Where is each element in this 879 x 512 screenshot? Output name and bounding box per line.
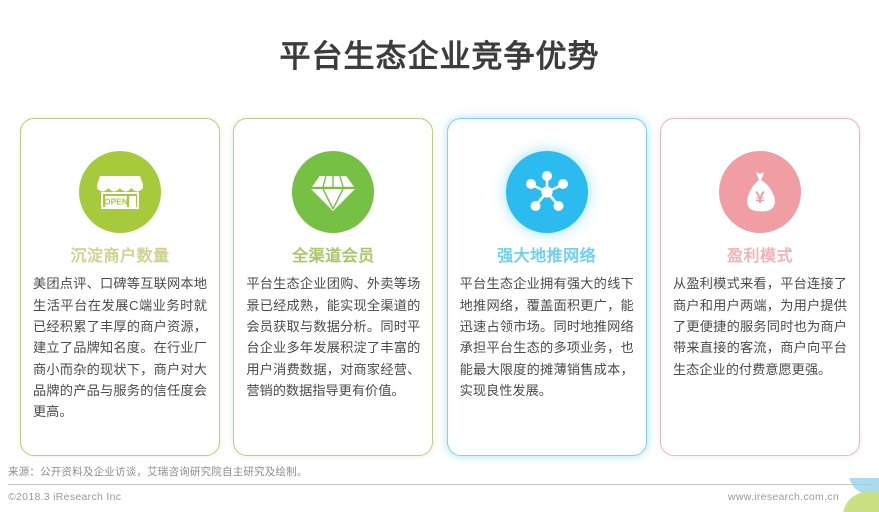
card-omnichannel-members: 全渠道会员 平台生态企业团购、外卖等场景已经成熟，能实现全渠道的会员获取与数据分…	[233, 118, 433, 456]
card-1-icon-wrap: OPEN	[30, 151, 210, 233]
card-3-icon-wrap	[457, 151, 637, 233]
card-title: 全渠道会员	[243, 247, 423, 266]
card-2-icon-wrap	[243, 151, 423, 233]
storefront-open-icon: OPEN	[79, 151, 161, 233]
svg-text:¥: ¥	[755, 188, 765, 207]
money-bag-yuan-icon: ¥	[719, 151, 801, 233]
card-body: 平台生态企业团购、外卖等场景已经成熟，能实现全渠道的会员获取与数据分析。同时平台…	[243, 273, 423, 401]
network-nodes-icon	[506, 151, 588, 233]
card-body: 从盈利模式来看，平台连接了商户和用户两端，为用户提供了更便捷的服务同时也为商户带…	[670, 273, 850, 380]
advantage-cards-row: OPEN 沉淀商户数量 美团点评、口碑等互联网本地生活平台在发展C端业务时就已经…	[20, 118, 860, 458]
diamond-icon	[292, 151, 374, 233]
card-title: 盈利模式	[670, 247, 850, 266]
svg-text:OPEN: OPEN	[104, 197, 128, 207]
corner-green-shape	[843, 492, 879, 512]
card-body: 平台生态企业拥有强大的线下地推网络，覆盖面积更广，能迅速占领市场。同时地推网络承…	[457, 273, 637, 401]
source-note: 来源：公开资料及企业访谈，艾瑞咨询研究院自主研究及绘制。	[8, 464, 308, 479]
footer-divider	[8, 484, 871, 485]
card-profit-model: ¥ 盈利模式 从盈利模式来看，平台连接了商户和用户两端，为用户提供了更便捷的服务…	[660, 118, 860, 456]
card-shop-count: OPEN 沉淀商户数量 美团点评、口碑等互联网本地生活平台在发展C端业务时就已经…	[20, 118, 220, 456]
page-title: 平台生态企业竞争优势	[0, 38, 879, 75]
copyright-text: ©2018.3 iResearch Inc	[8, 491, 121, 503]
card-4-icon-wrap: ¥	[670, 151, 850, 233]
brand-corner-graphic	[837, 478, 879, 512]
website-url: www.iresearch.com.cn	[728, 491, 839, 503]
card-title: 强大地推网络	[457, 247, 637, 266]
card-ground-promotion-network: 强大地推网络 平台生态企业拥有强大的线下地推网络，覆盖面积更广，能迅速占领市场。…	[447, 118, 647, 456]
card-body: 美团点评、口碑等互联网本地生活平台在发展C端业务时就已经积累了丰厚的商户资源，建…	[30, 273, 210, 423]
card-title: 沉淀商户数量	[30, 247, 210, 266]
